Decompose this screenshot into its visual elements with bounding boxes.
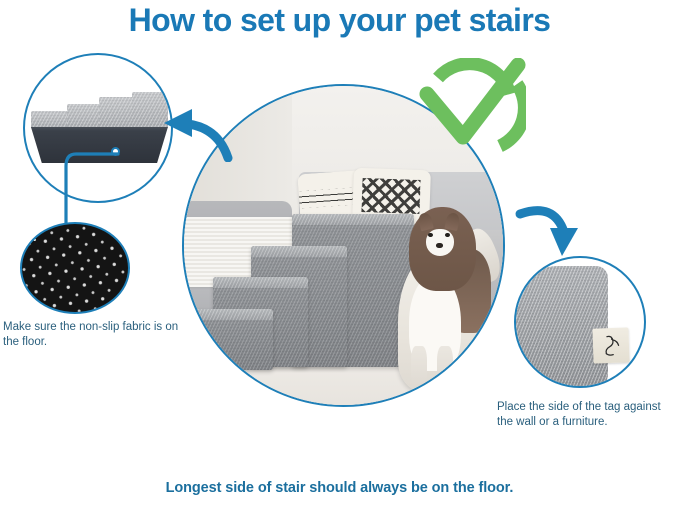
dog-head: [409, 207, 476, 291]
pet-stair-step-1: [182, 309, 273, 370]
dog-ear-left: [417, 211, 434, 231]
arrow-to-underside-detail-icon: [158, 104, 238, 162]
page-title: How to set up your pet stairs: [0, 2, 679, 39]
dog-nose: [436, 243, 443, 248]
pet-logo-icon: [597, 332, 625, 360]
step-tread: [213, 277, 309, 288]
footer-note: Longest side of stair should always be o…: [0, 480, 679, 496]
stairs-fabric-top: [31, 92, 168, 128]
product-tag: [592, 328, 629, 364]
detail-connector-line: [46, 148, 121, 230]
caption-non-slip-fabric: Make sure the non-slip fabric is on the …: [3, 320, 188, 350]
inverted-step-1: [31, 111, 69, 128]
dog-eye-right: [445, 233, 450, 237]
tag-side-detail-circle: [514, 256, 646, 388]
step-tread: [251, 246, 347, 257]
inverted-step-2: [67, 104, 103, 128]
dog-front-leg-right: [437, 346, 453, 392]
step-tread: [182, 309, 273, 320]
arrow-to-tag-detail-icon: [512, 192, 594, 264]
dog-ear-right: [445, 212, 462, 231]
inverted-step-3: [99, 97, 135, 128]
non-slip-fabric-swatch-circle: [20, 222, 130, 314]
green-check-icon: [414, 58, 526, 154]
caption-tag-placement: Place the side of the tag against the wa…: [497, 400, 677, 430]
dog-front-leg-left: [411, 346, 427, 392]
grip-dots-pattern: [20, 222, 130, 314]
stair-side-fabric: [514, 266, 608, 386]
husky-dog: [391, 182, 499, 393]
